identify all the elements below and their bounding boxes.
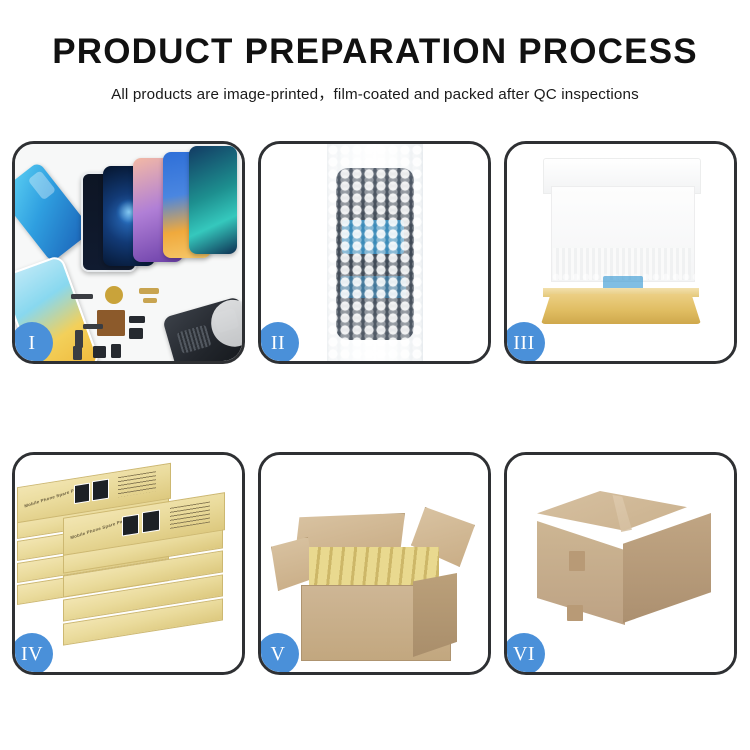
copper-grid-part xyxy=(97,310,125,336)
spare-parts-group xyxy=(71,284,242,361)
flex-cable-part xyxy=(139,288,159,294)
step-2-image xyxy=(261,144,488,361)
process-grid: I II III xyxy=(12,141,738,681)
step-panel-1: I xyxy=(12,141,245,364)
step-5-image xyxy=(261,455,488,672)
earpiece-mesh-part xyxy=(71,294,93,299)
box-window xyxy=(74,483,90,505)
chip-part xyxy=(129,328,143,339)
step-badge-6: VI xyxy=(504,633,545,675)
infographic-page: PRODUCT PREPARATION PROCESS All products… xyxy=(0,0,750,750)
box-spec-lines xyxy=(170,502,210,529)
step-badge-5: V xyxy=(258,633,299,675)
step-panel-5: V xyxy=(258,452,491,675)
chip-part xyxy=(129,316,145,323)
step-panel-4: Mobile Phone Spare Parts Mobile Phone Sp… xyxy=(12,452,245,675)
retail-box-label: Mobile Phone Spare Parts xyxy=(70,517,129,540)
header: PRODUCT PREPARATION PROCESS All products… xyxy=(0,0,750,104)
connector-part xyxy=(83,324,103,329)
step-badge-4: IV xyxy=(12,633,53,675)
box-front-wall xyxy=(541,294,701,324)
box-window xyxy=(142,509,160,533)
carton-tab xyxy=(567,605,583,621)
step-1-image xyxy=(15,144,242,361)
step-panel-3: III xyxy=(504,141,737,364)
speaker-part xyxy=(105,286,123,304)
box-spec-lines xyxy=(118,471,156,497)
carton-tab xyxy=(569,551,585,571)
step-panel-2: II xyxy=(258,141,491,364)
button-part xyxy=(111,344,121,358)
step-panel-6: VI xyxy=(504,452,737,675)
step-6-image xyxy=(507,455,734,672)
sim-tray-part xyxy=(73,346,82,360)
bubble-wrap-texture-back xyxy=(327,150,423,361)
teal-phone xyxy=(189,146,237,254)
box-window xyxy=(122,514,139,537)
step-4-image: Mobile Phone Spare Parts Mobile Phone Sp… xyxy=(15,455,242,672)
box-window xyxy=(92,479,109,502)
page-subtitle: All products are image-printed，film-coat… xyxy=(0,82,750,104)
step-badge-2: II xyxy=(258,322,299,364)
step-badge-1: I xyxy=(12,322,53,364)
camera-part xyxy=(93,346,106,358)
page-title: PRODUCT PREPARATION PROCESS xyxy=(0,34,750,71)
step-badge-3: III xyxy=(504,322,545,364)
step-3-image xyxy=(507,144,734,361)
flex-cable-part xyxy=(143,298,157,303)
carton-right-face xyxy=(623,513,711,623)
